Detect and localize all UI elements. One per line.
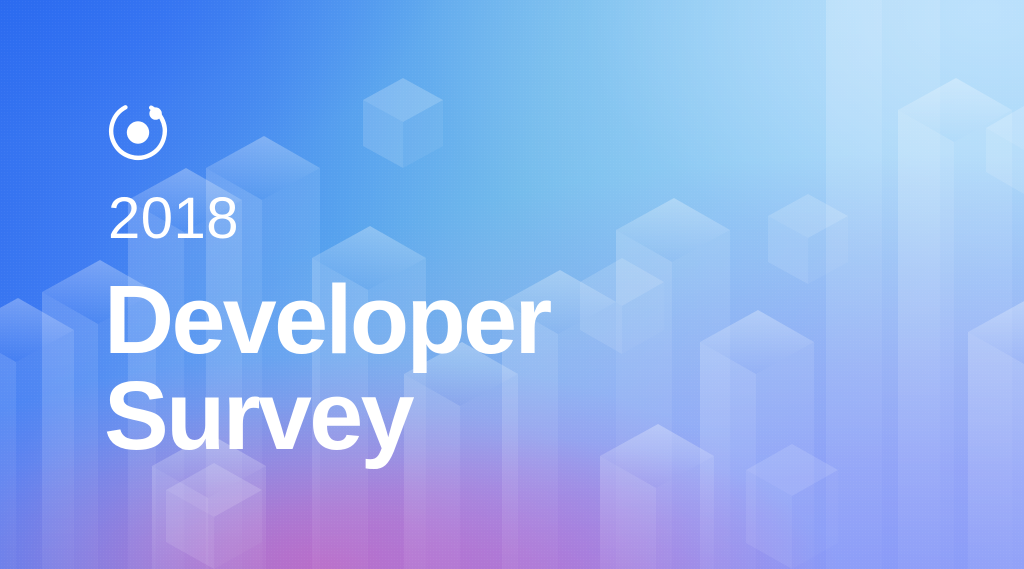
iso-cube xyxy=(986,106,1024,194)
page-title-line-2: Survey xyxy=(104,368,550,464)
iso-bar xyxy=(0,298,74,569)
page-title-line-1: Developer xyxy=(104,265,550,374)
page-title: Developer Survey xyxy=(104,272,550,464)
banner-content: 2018 Developer Survey xyxy=(108,0,808,569)
iso-bar xyxy=(898,78,1012,569)
page-year: 2018 xyxy=(108,190,239,248)
developer-survey-banner: 2018 Developer Survey xyxy=(0,0,1024,569)
ionic-logo-icon xyxy=(108,101,168,161)
iso-bar xyxy=(968,300,1024,569)
iso-bar xyxy=(826,0,940,569)
